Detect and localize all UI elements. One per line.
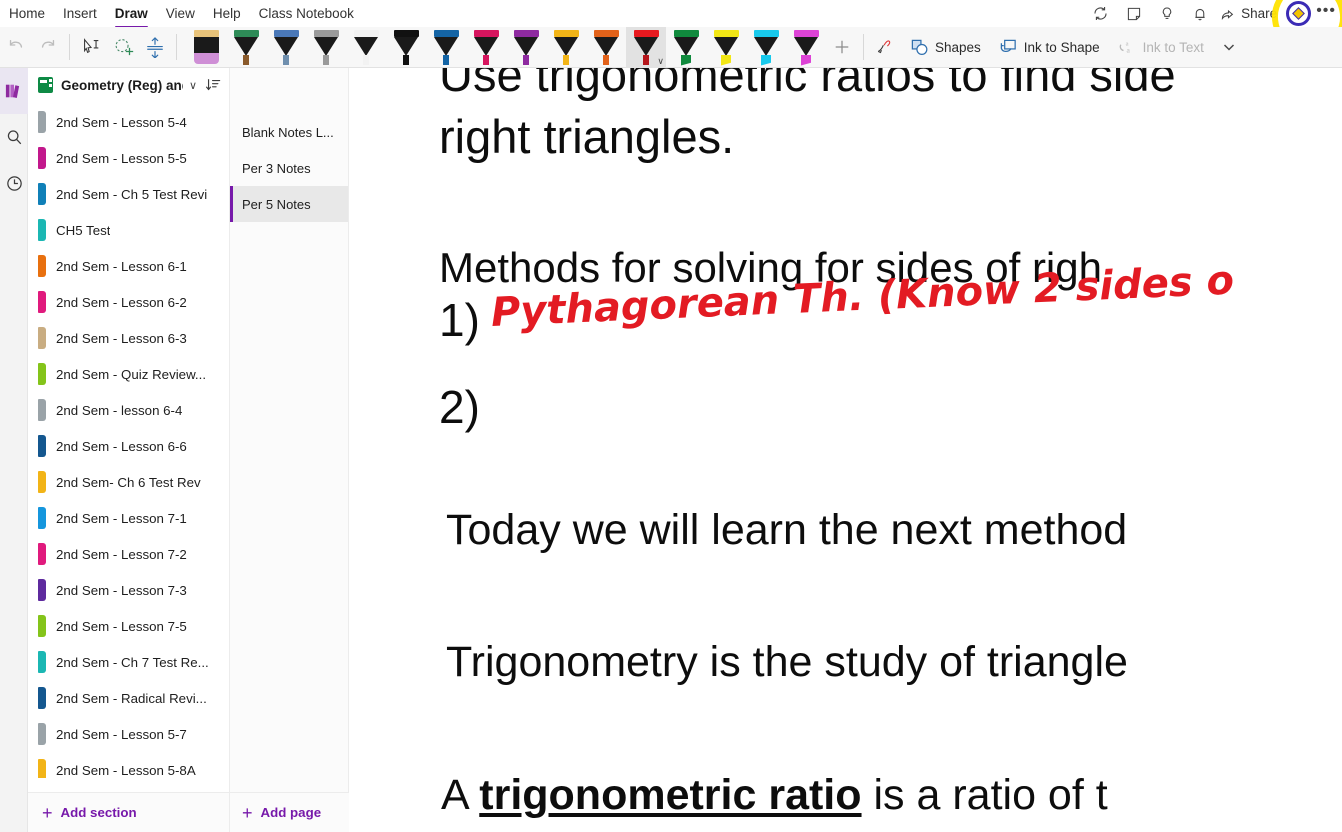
- section-color-tab: [38, 111, 46, 133]
- section-row[interactable]: 2nd Sem - Lesson 7-2: [28, 536, 229, 572]
- section-label: CH5 Test: [56, 223, 110, 238]
- section-row[interactable]: 2nd Sem - Lesson 7-3: [28, 572, 229, 608]
- section-row[interactable]: 2nd Sem - Lesson 5-7: [28, 716, 229, 752]
- add-section-button[interactable]: + Add section: [28, 793, 230, 832]
- ink-to-text-button[interactable]: a a Ink to Text: [1109, 30, 1213, 64]
- pen-pen-galaxy[interactable]: [266, 27, 306, 68]
- pen-body: [674, 37, 698, 56]
- add-page-button[interactable]: + Add page: [230, 793, 349, 832]
- section-row[interactable]: CH5 Test: [28, 212, 229, 248]
- rail-item-recent[interactable]: [0, 160, 28, 206]
- ribbon-divider-2: [176, 34, 177, 60]
- onenote-window: Home Insert Draw View Help Class Noteboo…: [0, 0, 1342, 832]
- pen-cap: [674, 30, 699, 37]
- objective-line-2: right triangles.: [439, 112, 734, 162]
- redo-button[interactable]: [32, 30, 64, 64]
- plus-icon: [124, 46, 135, 57]
- pen-nib: [283, 55, 289, 65]
- notebook-icon: [38, 77, 53, 93]
- section-label: 2nd Sem - Lesson 6-1: [56, 259, 187, 274]
- add-pen-button[interactable]: [826, 30, 858, 64]
- pen-body: [634, 37, 658, 56]
- section-label: 2nd Sem - Lesson 6-2: [56, 295, 187, 310]
- pen-body: [314, 37, 338, 56]
- tab-home[interactable]: Home: [0, 0, 54, 27]
- pen-cap: [394, 30, 419, 37]
- section-label: 2nd Sem - Lesson 6-3: [56, 331, 187, 346]
- search-icon: [5, 128, 24, 147]
- tab-help[interactable]: Help: [204, 0, 250, 27]
- section-row[interactable]: 2nd Sem - Ch 5 Test Revi: [28, 176, 229, 212]
- ratio-term-emphasis: trigonometric ratio: [479, 771, 861, 819]
- ratio-definition-line: A trigonometric ratio is a ratio of t: [441, 773, 1108, 819]
- pen-cap: [434, 30, 459, 37]
- lasso-select-button[interactable]: [107, 30, 139, 64]
- pen-body: [794, 37, 818, 56]
- plus-icon: +: [42, 804, 53, 822]
- section-color-tab: [38, 687, 46, 709]
- pen-cap: [194, 30, 219, 37]
- add-bar: + Add section + Add page: [28, 792, 349, 832]
- pen-nib: [801, 55, 811, 66]
- section-label: 2nd Sem - Quiz Review...: [56, 367, 206, 382]
- more-options-button[interactable]: •••: [1314, 2, 1340, 26]
- section-color-tab: [38, 147, 46, 169]
- pen-cap: [354, 30, 379, 37]
- pen-pen-rainbow[interactable]: [226, 27, 266, 68]
- section-label: 2nd Sem - Ch 5 Test Revi: [56, 187, 207, 202]
- pen-nib: [194, 53, 219, 64]
- section-row[interactable]: 2nd Sem - Quiz Review...: [28, 356, 229, 392]
- page-row[interactable]: Blank Notes L...: [230, 114, 348, 150]
- pen-body: [234, 37, 258, 56]
- pen-cap: [634, 30, 659, 37]
- section-row[interactable]: 2nd Sem - Lesson 5-8A: [28, 752, 229, 778]
- section-color-tab: [38, 579, 46, 601]
- plus-icon: +: [242, 804, 253, 822]
- pen-nib: [721, 55, 731, 66]
- tab-draw[interactable]: Draw: [106, 0, 157, 27]
- notebook-header[interactable]: Geometry (Reg) and Statistics ∨: [28, 68, 229, 102]
- tab-view[interactable]: View: [157, 0, 204, 27]
- section-row[interactable]: 2nd Sem - lesson 6-4: [28, 392, 229, 428]
- chevron-down-icon[interactable]: ∨: [189, 79, 197, 92]
- pen-nib: [243, 55, 249, 65]
- clock-icon: [5, 174, 24, 193]
- add-section-label: Add section: [61, 805, 137, 820]
- pen-body: [754, 37, 778, 56]
- section-label: 2nd Sem - Lesson 5-7: [56, 727, 187, 742]
- accessibility-checker-icon[interactable]: [1285, 0, 1312, 27]
- shapes-label: Shapes: [935, 40, 981, 55]
- pen-body: [594, 37, 618, 56]
- page-canvas[interactable]: Use trigonometric ratios to find side ri…: [349, 68, 1342, 832]
- ribbon-tab-bar: Home Insert Draw View Help Class Noteboo…: [0, 0, 1342, 27]
- pen-body: [514, 37, 538, 56]
- pen-nib: [643, 55, 649, 65]
- shapes-icon: [910, 38, 929, 57]
- pen-body: [434, 37, 458, 56]
- rail-item-notebooks[interactable]: [0, 68, 28, 114]
- pen-body: [194, 37, 219, 54]
- sort-icon[interactable]: [205, 77, 221, 93]
- pen-nib: [483, 55, 489, 65]
- chevron-down-icon[interactable]: ∨: [657, 56, 664, 67]
- ink-to-shape-label: Ink to Shape: [1024, 40, 1100, 55]
- pen-nib: [681, 55, 691, 66]
- ribbon-divider: [69, 34, 70, 60]
- pen-cap: [594, 30, 619, 37]
- section-color-tab: [38, 543, 46, 565]
- pen-cap: [474, 30, 499, 37]
- section-row[interactable]: 2nd Sem - Lesson 7-1: [28, 500, 229, 536]
- section-color-tab: [38, 615, 46, 637]
- pen-body: [714, 37, 738, 56]
- section-color-tab: [38, 255, 46, 277]
- pen-cap: [714, 30, 739, 37]
- page-label: Per 3 Notes: [242, 161, 311, 176]
- section-row[interactable]: 2nd Sem - Lesson 6-1: [28, 248, 229, 284]
- pen-pen-purple[interactable]: [506, 27, 546, 68]
- pen-cap: [794, 30, 819, 37]
- ink-to-shape-button[interactable]: Ink to Shape: [990, 30, 1109, 64]
- sync-icon[interactable]: [1085, 1, 1116, 27]
- today-line: Today we will learn the next method: [446, 508, 1127, 554]
- section-row[interactable]: 2nd Sem - Lesson 6-2: [28, 284, 229, 320]
- pen-body: [274, 37, 298, 56]
- section-color-tab: [38, 759, 46, 778]
- list-number-1: 1): [439, 296, 480, 345]
- pen-nib: [563, 55, 569, 65]
- section-color-tab: [38, 327, 46, 349]
- select-tool-button[interactable]: [75, 30, 107, 64]
- pen-body: [554, 37, 578, 56]
- ribbon-more-chevron[interactable]: [1213, 30, 1245, 64]
- ink-to-text-label: Ink to Text: [1143, 40, 1204, 55]
- pen-pen-pink[interactable]: [466, 27, 506, 68]
- section-label: 2nd Sem - Lesson 5-5: [56, 151, 187, 166]
- pen-highlighter-yellow[interactable]: [706, 27, 746, 68]
- sticky-note-icon[interactable]: [1118, 1, 1149, 27]
- section-color-tab: [38, 471, 46, 493]
- section-color-tab: [38, 435, 46, 457]
- section-row[interactable]: 2nd Sem - Ch 7 Test Re...: [28, 644, 229, 680]
- section-row[interactable]: 2nd Sem - Lesson 5-5: [28, 140, 229, 176]
- pen-highlighter-magenta[interactable]: [786, 27, 826, 68]
- section-label: 2nd Sem - Lesson 7-2: [56, 547, 187, 562]
- section-row[interactable]: 2nd Sem - Radical Revi...: [28, 680, 229, 716]
- pen-cap: [754, 30, 779, 37]
- section-color-tab: [38, 723, 46, 745]
- eraser-button[interactable]: [869, 30, 901, 64]
- pen-body: [354, 37, 378, 56]
- chevron-down-icon: [1221, 39, 1237, 55]
- section-color-tab: [38, 183, 46, 205]
- rail-item-search[interactable]: [0, 114, 28, 160]
- pen-pen-blue[interactable]: [426, 27, 466, 68]
- list-number-2: 2): [439, 383, 480, 432]
- section-color-tab: [38, 651, 46, 673]
- section-label: 2nd Sem - Lesson 5-4: [56, 115, 187, 130]
- pen-cap: [514, 30, 539, 37]
- pen-body: [474, 37, 498, 56]
- notebook-title: Geometry (Reg) and Statistics: [61, 78, 183, 93]
- pen-cap: [234, 30, 259, 37]
- section-color-tab: [38, 399, 46, 421]
- pen-nib: [323, 55, 329, 65]
- pen-cap: [554, 30, 579, 37]
- insert-space-button[interactable]: [139, 30, 171, 64]
- pen-nib: [761, 55, 771, 66]
- section-panel: Geometry (Reg) and Statistics ∨ 2nd Sem …: [28, 68, 230, 832]
- section-label: 2nd Sem - Lesson 5-8A: [56, 763, 196, 778]
- pen-nib: [523, 55, 529, 65]
- tab-insert[interactable]: Insert: [54, 0, 106, 27]
- section-row[interactable]: 2nd Sem - Lesson 5-4: [28, 104, 229, 140]
- section-color-tab: [38, 363, 46, 385]
- page-row[interactable]: Per 5 Notes: [230, 186, 348, 222]
- section-label: 2nd Sem - Lesson 6-6: [56, 439, 187, 454]
- pen-pen-white[interactable]: [346, 27, 386, 68]
- ratio-text-prefix: A: [441, 771, 479, 819]
- lightbulb-icon[interactable]: [1151, 1, 1182, 27]
- pen-nib: [443, 55, 449, 65]
- pen-nib: [603, 55, 609, 65]
- section-list: 2nd Sem - Lesson 5-42nd Sem - Lesson 5-5…: [28, 102, 229, 778]
- pen-pen-silver[interactable]: [306, 27, 346, 68]
- pen-pen-orange[interactable]: [586, 27, 626, 68]
- share-icon: [1220, 6, 1236, 22]
- section-color-tab: [38, 507, 46, 529]
- section-color-tab: [38, 219, 46, 241]
- section-row[interactable]: 2nd Sem - Lesson 6-3: [28, 320, 229, 356]
- section-label: 2nd Sem - Ch 7 Test Re...: [56, 655, 209, 670]
- shapes-button[interactable]: Shapes: [901, 30, 990, 64]
- pen-cap: [274, 30, 299, 37]
- share-label: Share: [1241, 6, 1277, 21]
- pen-pen-black[interactable]: [386, 27, 426, 68]
- section-label: 2nd Sem - Lesson 7-3: [56, 583, 187, 598]
- pen-highlighter-cyan[interactable]: [746, 27, 786, 68]
- page-list: Blank Notes L...Per 3 NotesPer 5 Notes: [230, 68, 348, 222]
- tab-class-notebook[interactable]: Class Notebook: [250, 0, 363, 27]
- pen-body: [394, 37, 418, 56]
- pen-nib: [363, 55, 369, 65]
- trigonometry-line: Trigonometry is the study of triangle: [446, 640, 1128, 686]
- add-page-label: Add page: [261, 805, 322, 820]
- undo-button[interactable]: [0, 30, 32, 64]
- draw-ribbon: ∨ Shapes Ink to: [0, 27, 1342, 68]
- pen-cap: [314, 30, 339, 37]
- ratio-text-suffix: is a ratio of t: [862, 771, 1108, 819]
- section-label: 2nd Sem - Radical Revi...: [56, 691, 207, 706]
- pen-pencil-gold[interactable]: [186, 27, 226, 68]
- ink-to-shape-icon: [999, 38, 1018, 57]
- pen-highlighter-green[interactable]: [666, 27, 706, 68]
- section-row[interactable]: 2nd Sem - Lesson 7-5: [28, 608, 229, 644]
- section-label: 2nd Sem - Lesson 7-1: [56, 511, 187, 526]
- pen-nib: [403, 55, 409, 65]
- svg-text:a: a: [1126, 45, 1130, 54]
- share-button[interactable]: Share: [1217, 1, 1283, 27]
- page-row[interactable]: Per 3 Notes: [230, 150, 348, 186]
- title-bar-actions: Share •••: [1085, 0, 1342, 27]
- pen-pen-gold[interactable]: [546, 27, 586, 68]
- section-label: 2nd Sem - lesson 6-4: [56, 403, 182, 418]
- section-label: 2nd Sem- Ch 6 Test Rev: [56, 475, 201, 490]
- page-panel: Blank Notes L...Per 3 NotesPer 5 Notes: [230, 68, 349, 832]
- section-label: 2nd Sem - Lesson 7-5: [56, 619, 187, 634]
- pen-strip: ∨: [182, 27, 826, 68]
- pen-pen-red[interactable]: ∨: [626, 27, 666, 68]
- page-label: Blank Notes L...: [242, 125, 334, 140]
- section-color-tab: [38, 291, 46, 313]
- bell-icon[interactable]: [1184, 1, 1215, 27]
- left-nav-rail: [0, 68, 28, 832]
- section-row[interactable]: 2nd Sem- Ch 6 Test Rev: [28, 464, 229, 500]
- ribbon-divider-3: [863, 34, 864, 60]
- notebooks-icon: [4, 82, 24, 100]
- objective-line-1: Use trigonometric ratios to find side: [439, 68, 1176, 100]
- section-row[interactable]: 2nd Sem - Lesson 6-6: [28, 428, 229, 464]
- ink-to-text-icon: a a: [1118, 38, 1137, 57]
- page-label: Per 5 Notes: [242, 197, 311, 212]
